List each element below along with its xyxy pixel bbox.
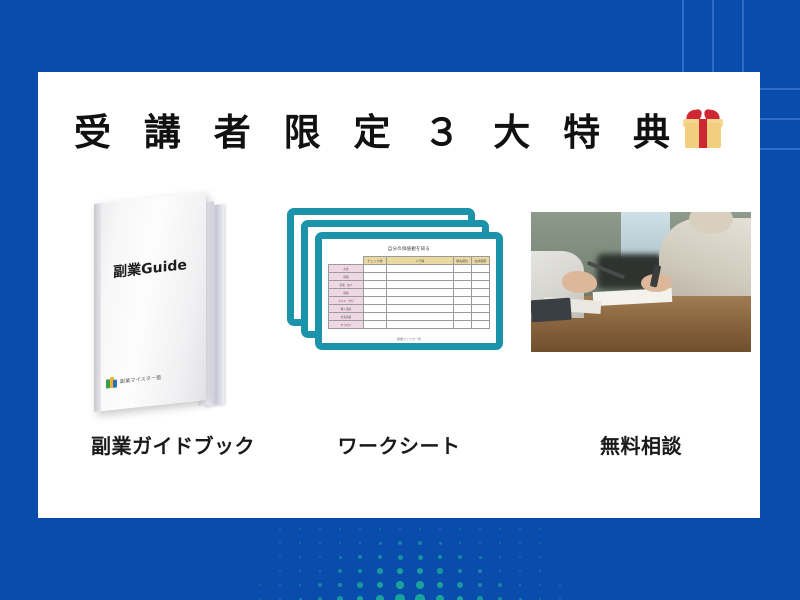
- caption-guidebook: 副業ガイドブック: [58, 430, 288, 459]
- worksheet-col-header: [329, 257, 364, 265]
- worksheet-cell: [363, 265, 386, 273]
- headline: 受 講 者 限 定 ３ 大 特 典: [38, 102, 760, 156]
- benefit-items: 副業Guide 副業マイスター塾 副業ガイドブック: [38, 190, 760, 490]
- worksheet-cell: [386, 265, 453, 273]
- decor-dot: [397, 568, 403, 574]
- worksheet-row-label: 時間: [329, 273, 364, 281]
- decor-dot: [379, 528, 381, 530]
- worksheet-title: 自分の価値観を知る: [328, 246, 490, 252]
- decor-dot: [319, 528, 320, 529]
- decor-dot: [479, 542, 481, 544]
- decor-dot: [377, 568, 383, 574]
- worksheet-cell: [386, 273, 453, 281]
- decor-dot: [458, 555, 462, 559]
- worksheet-cell: [471, 289, 489, 297]
- gift-emoji: [682, 108, 724, 150]
- decor-dot: [499, 556, 501, 558]
- decor-dot: [499, 570, 502, 573]
- decor-dot: [416, 581, 424, 589]
- photo-laptop: [531, 297, 571, 322]
- decor-dot: [539, 556, 540, 557]
- worksheet-cell: [363, 305, 386, 313]
- decor-dot: [457, 582, 463, 588]
- worksheet-cell: [453, 321, 471, 329]
- worksheet-cell: [386, 289, 453, 297]
- decor-dot: [398, 541, 402, 545]
- worksheet-cell: [471, 297, 489, 305]
- worksheet-visual: 自分の価値観を知る チェック欄メモ欄優先順位達成期限お金時間家族・友人健康スキル…: [284, 190, 514, 425]
- worksheet-cell: [386, 305, 453, 313]
- worksheet-row-label: 家族・友人: [329, 281, 364, 289]
- decor-dot: [259, 584, 260, 585]
- decor-dot: [398, 555, 403, 560]
- decor-dot: [399, 528, 401, 530]
- decor-dot: [478, 583, 483, 588]
- decor-dot: [479, 556, 482, 559]
- decor-dot: [318, 583, 322, 587]
- decor-dot: [559, 584, 560, 585]
- gift-ribbon: [699, 119, 707, 148]
- slide-canvas: 受 講 者 限 定 ３ 大 特 典 副業Guide: [0, 0, 800, 600]
- book-mockup: 副業Guide 副業マイスター塾: [86, 195, 261, 420]
- worksheet-table: チェック欄メモ欄優先順位達成期限お金時間家族・友人健康スキル・学び働く環境社会貢…: [328, 256, 490, 329]
- decor-dot: [539, 584, 541, 586]
- decor-dot: [539, 570, 540, 571]
- decor-dot: [459, 542, 462, 545]
- decor-dot: [499, 542, 501, 544]
- worksheet-row: スキル・学び: [329, 297, 490, 305]
- worksheet-col-header: チェック欄: [363, 257, 386, 265]
- worksheet-col-header: 達成期限: [471, 257, 489, 265]
- decor-dot: [319, 556, 321, 558]
- decor-dot: [459, 528, 461, 530]
- worksheet-cell: [471, 265, 489, 273]
- worksheet-cell: [453, 297, 471, 305]
- decor-dot: [299, 542, 300, 543]
- logo-mark-icon: [106, 376, 117, 388]
- decor-dot: [519, 556, 521, 558]
- decor-dot: [279, 542, 280, 543]
- decor-dot: [519, 542, 520, 543]
- decor-dot: [439, 542, 442, 545]
- worksheet-cell: [363, 313, 386, 321]
- worksheet-row: 時間: [329, 273, 490, 281]
- decor-dot: [417, 568, 423, 574]
- decor-dot: [477, 596, 483, 600]
- decor-dot: [339, 556, 342, 559]
- worksheet-row-label: スキル・学び: [329, 297, 364, 305]
- decor-dot: [279, 528, 280, 529]
- worksheet-cell: [386, 313, 453, 321]
- decor-dot: [379, 542, 382, 545]
- decor-dot: [337, 596, 343, 600]
- caption-worksheet: ワークシート: [284, 430, 514, 459]
- worksheet-cell: [386, 297, 453, 305]
- worksheet-cell: [471, 321, 489, 329]
- decor-dot: [319, 542, 321, 544]
- worksheet-col-header: メモ欄: [386, 257, 453, 265]
- decor-dot: [279, 584, 281, 586]
- decor-dot: [359, 528, 361, 530]
- decor-dot: [357, 596, 364, 600]
- book-cover: 副業Guide 副業マイスター塾: [94, 192, 206, 412]
- guidebook-visual: 副業Guide 副業マイスター塾: [58, 190, 288, 425]
- decor-dot: [437, 582, 444, 589]
- book-cover-title: 副業Guide: [94, 252, 206, 284]
- decor-dot: [339, 528, 340, 529]
- decor-dot: [437, 568, 443, 574]
- decor-dot: [338, 569, 342, 573]
- decor-dot: [519, 570, 521, 572]
- worksheet-cell: [363, 321, 386, 329]
- decor-dot: [479, 528, 480, 529]
- decor-dot: [259, 598, 260, 599]
- worksheet-footer: 副業マイスター塾: [322, 337, 496, 341]
- worksheet-cell: [386, 321, 453, 329]
- worksheet-cell: [363, 273, 386, 281]
- decor-dot: [419, 528, 421, 530]
- worksheet-cell: [386, 281, 453, 289]
- dot-grid-decoration: [250, 522, 570, 600]
- worksheet-row: 働く環境: [329, 305, 490, 313]
- decor-dot: [415, 594, 424, 600]
- content-card: 受 講 者 限 定 ３ 大 特 典 副業Guide: [38, 72, 760, 518]
- consultation-visual: [526, 190, 756, 425]
- decor-dot: [358, 555, 362, 559]
- photo-hand-left: [562, 271, 597, 293]
- decor-dot: [499, 528, 500, 529]
- decor-dot: [279, 556, 280, 557]
- worksheet-row-label: 社会貢献: [329, 313, 364, 321]
- worksheet-row: 家族・友人: [329, 281, 490, 289]
- worksheet-row-label: やりがい: [329, 321, 364, 329]
- worksheet-row: 社会貢献: [329, 313, 490, 321]
- decor-dot: [378, 555, 382, 559]
- decor-dot: [439, 528, 441, 530]
- page-title: 受 講 者 限 定 ３ 大 特 典: [74, 102, 680, 156]
- consultation-photo: [531, 212, 751, 352]
- benefit-item-guidebook: 副業Guide 副業マイスター塾 副業ガイドブック: [58, 190, 288, 490]
- decor-dot: [319, 570, 322, 573]
- worksheet-cell: [471, 305, 489, 313]
- book-spine: [94, 203, 101, 412]
- decor-dot: [539, 542, 540, 543]
- decor-dot: [395, 594, 404, 600]
- decor-dot: [458, 569, 463, 574]
- worksheet-row-label: お金: [329, 265, 364, 273]
- decor-dot: [359, 542, 362, 545]
- decor-dot: [299, 584, 302, 587]
- decor-dot: [299, 570, 301, 572]
- decor-dot: [539, 528, 540, 529]
- worksheet-row: 健康: [329, 289, 490, 297]
- book-logo: 副業マイスター塾: [106, 367, 196, 388]
- worksheet-cell: [453, 313, 471, 321]
- decor-dot: [357, 582, 363, 588]
- worksheet-col-header: 優先順位: [453, 257, 471, 265]
- worksheet-cell: [471, 273, 489, 281]
- decor-dot: [377, 582, 384, 589]
- decor-dot: [559, 598, 560, 599]
- worksheet-cell: [453, 273, 471, 281]
- worksheet-cell: [453, 305, 471, 313]
- decor-dot: [279, 570, 280, 571]
- worksheet-cell: [363, 297, 386, 305]
- caption-consultation: 無料相談: [526, 430, 756, 459]
- worksheet-cell: [471, 313, 489, 321]
- worksheet-cell: [453, 281, 471, 289]
- decor-dot: [519, 528, 520, 529]
- decor-dot: [376, 595, 384, 600]
- decor-dot: [436, 595, 444, 600]
- worksheet-cell: [453, 289, 471, 297]
- decor-dot: [498, 583, 502, 587]
- worksheet-row: お金: [329, 265, 490, 273]
- decor-dot: [418, 555, 423, 560]
- worksheet-cell: [363, 289, 386, 297]
- decor-dot: [299, 556, 301, 558]
- decor-dot: [438, 555, 442, 559]
- decor-dot: [299, 528, 300, 529]
- worksheet-cell: [471, 281, 489, 289]
- benefit-item-consultation: 無料相談: [526, 190, 756, 490]
- decor-dot: [478, 569, 482, 573]
- book-logo-text: 副業マイスター塾: [120, 373, 161, 384]
- worksheet-cell: [363, 281, 386, 289]
- decor-dot: [519, 584, 522, 587]
- worksheet-cell: [453, 265, 471, 273]
- worksheet-row: やりがい: [329, 321, 490, 329]
- decor-dot: [338, 583, 343, 588]
- decor-dot: [358, 569, 363, 574]
- worksheet-card-front: 自分の価値観を知る チェック欄メモ欄優先順位達成期限お金時間家族・友人健康スキル…: [315, 232, 503, 350]
- worksheet-row-label: 健康: [329, 289, 364, 297]
- worksheet-row-label: 働く環境: [329, 305, 364, 313]
- decor-dot: [418, 541, 422, 545]
- decor-dot: [457, 596, 464, 600]
- worksheet-content: 自分の価値観を知る チェック欄メモ欄優先順位達成期限お金時間家族・友人健康スキル…: [322, 239, 496, 343]
- decor-dot: [396, 581, 404, 589]
- benefit-item-worksheet: 自分の価値観を知る チェック欄メモ欄優先順位達成期限お金時間家族・友人健康スキル…: [284, 190, 514, 490]
- worksheet-stack: 自分の価値観を知る チェック欄メモ欄優先順位達成期限お金時間家族・友人健康スキル…: [287, 208, 511, 358]
- decor-dot: [339, 542, 341, 544]
